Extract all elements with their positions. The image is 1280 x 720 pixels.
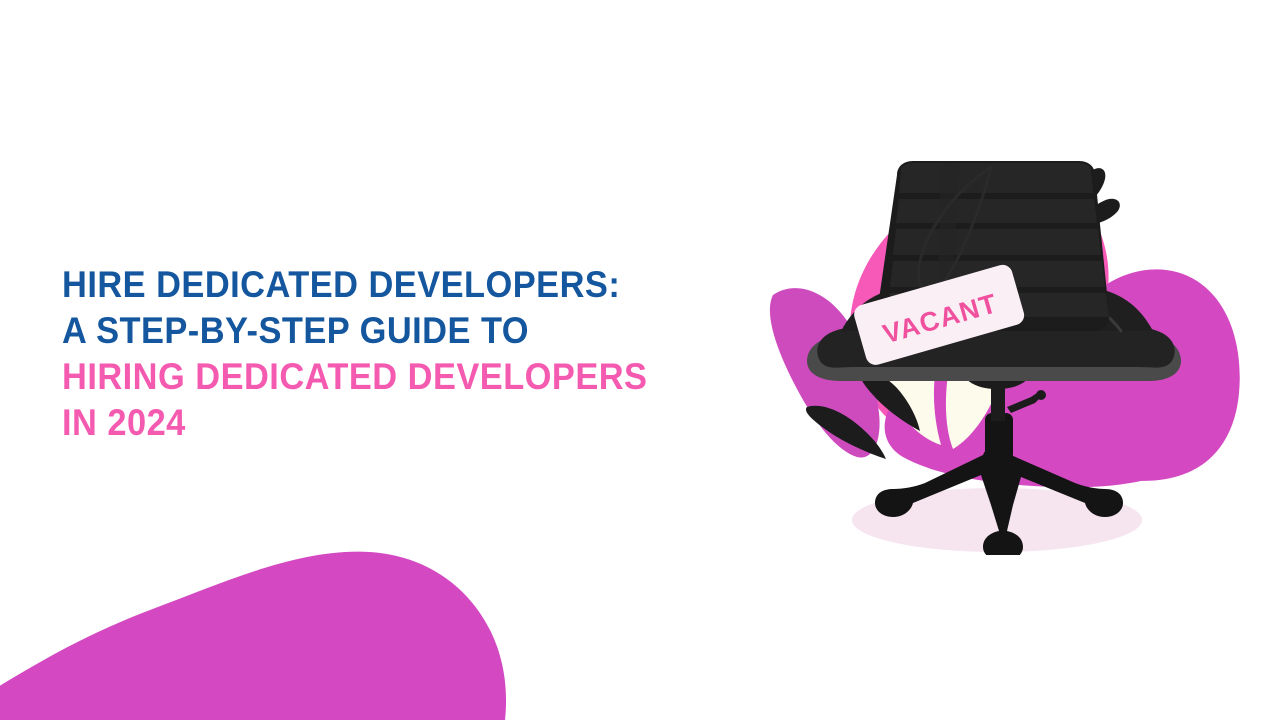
vacant-chair-illustration: VACANT	[745, 145, 1245, 555]
headline-line-1: HIRE DEDICATED DEVELOPERS:	[62, 262, 713, 308]
headline-line-4: IN 2024	[62, 400, 713, 446]
corner-blob-decoration	[0, 520, 520, 720]
corner-blob-shape	[0, 552, 506, 720]
page-title: HIRE DEDICATED DEVELOPERS: A STEP-BY-STE…	[62, 262, 762, 446]
chair-lever-knob	[1036, 390, 1046, 400]
headline-line-2: A STEP-BY-STEP GUIDE TO	[62, 308, 713, 354]
headline-line-3: HIRING DEDICATED DEVELOPERS	[62, 354, 713, 400]
hero-banner: HIRE DEDICATED DEVELOPERS: A STEP-BY-STE…	[0, 0, 1280, 720]
